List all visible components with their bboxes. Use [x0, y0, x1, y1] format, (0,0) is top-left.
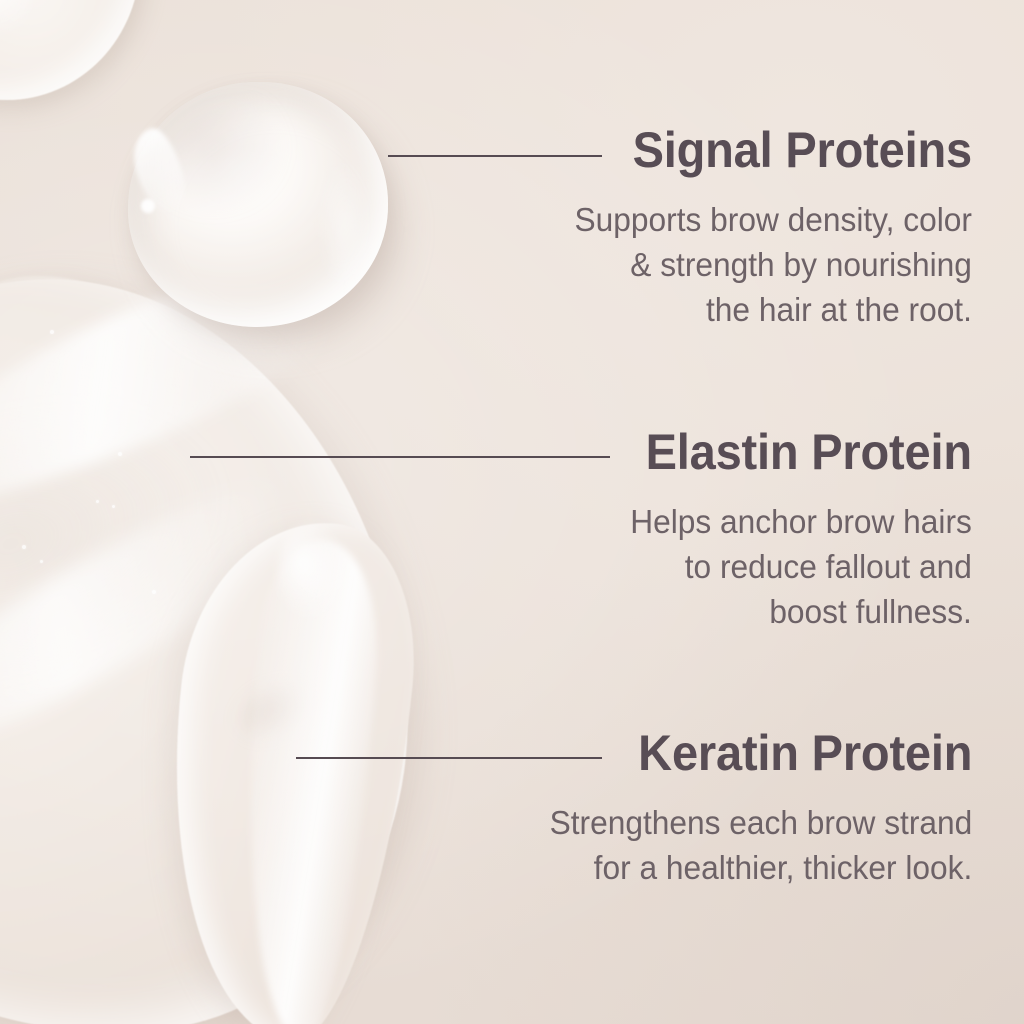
callout-body-signal-proteins: Supports brow density, color & strength …	[575, 197, 972, 332]
callout-keratin-protein: Keratin Protein Strengthens each brow st…	[532, 728, 972, 890]
callout-body-keratin-protein: Strengthens each brow strand for a healt…	[549, 800, 972, 890]
callout-list: Signal Proteins Supports brow density, c…	[0, 0, 1024, 1024]
callout-heading-keratin-protein: Keratin Protein	[558, 728, 972, 778]
callout-signal-proteins: Signal Proteins Supports brow density, c…	[558, 125, 972, 332]
callout-heading-elastin-protein: Elastin Protein	[638, 427, 972, 477]
product-ingredient-infographic: Signal Proteins Supports brow density, c…	[0, 0, 1024, 1024]
callout-heading-signal-proteins: Signal Proteins	[583, 125, 972, 175]
callout-body-elastin-protein: Helps anchor brow hairs to reduce fallou…	[630, 499, 972, 634]
leader-line-elastin-protein	[190, 456, 610, 458]
callout-elastin-protein: Elastin Protein Helps anchor brow hairs …	[616, 427, 972, 634]
